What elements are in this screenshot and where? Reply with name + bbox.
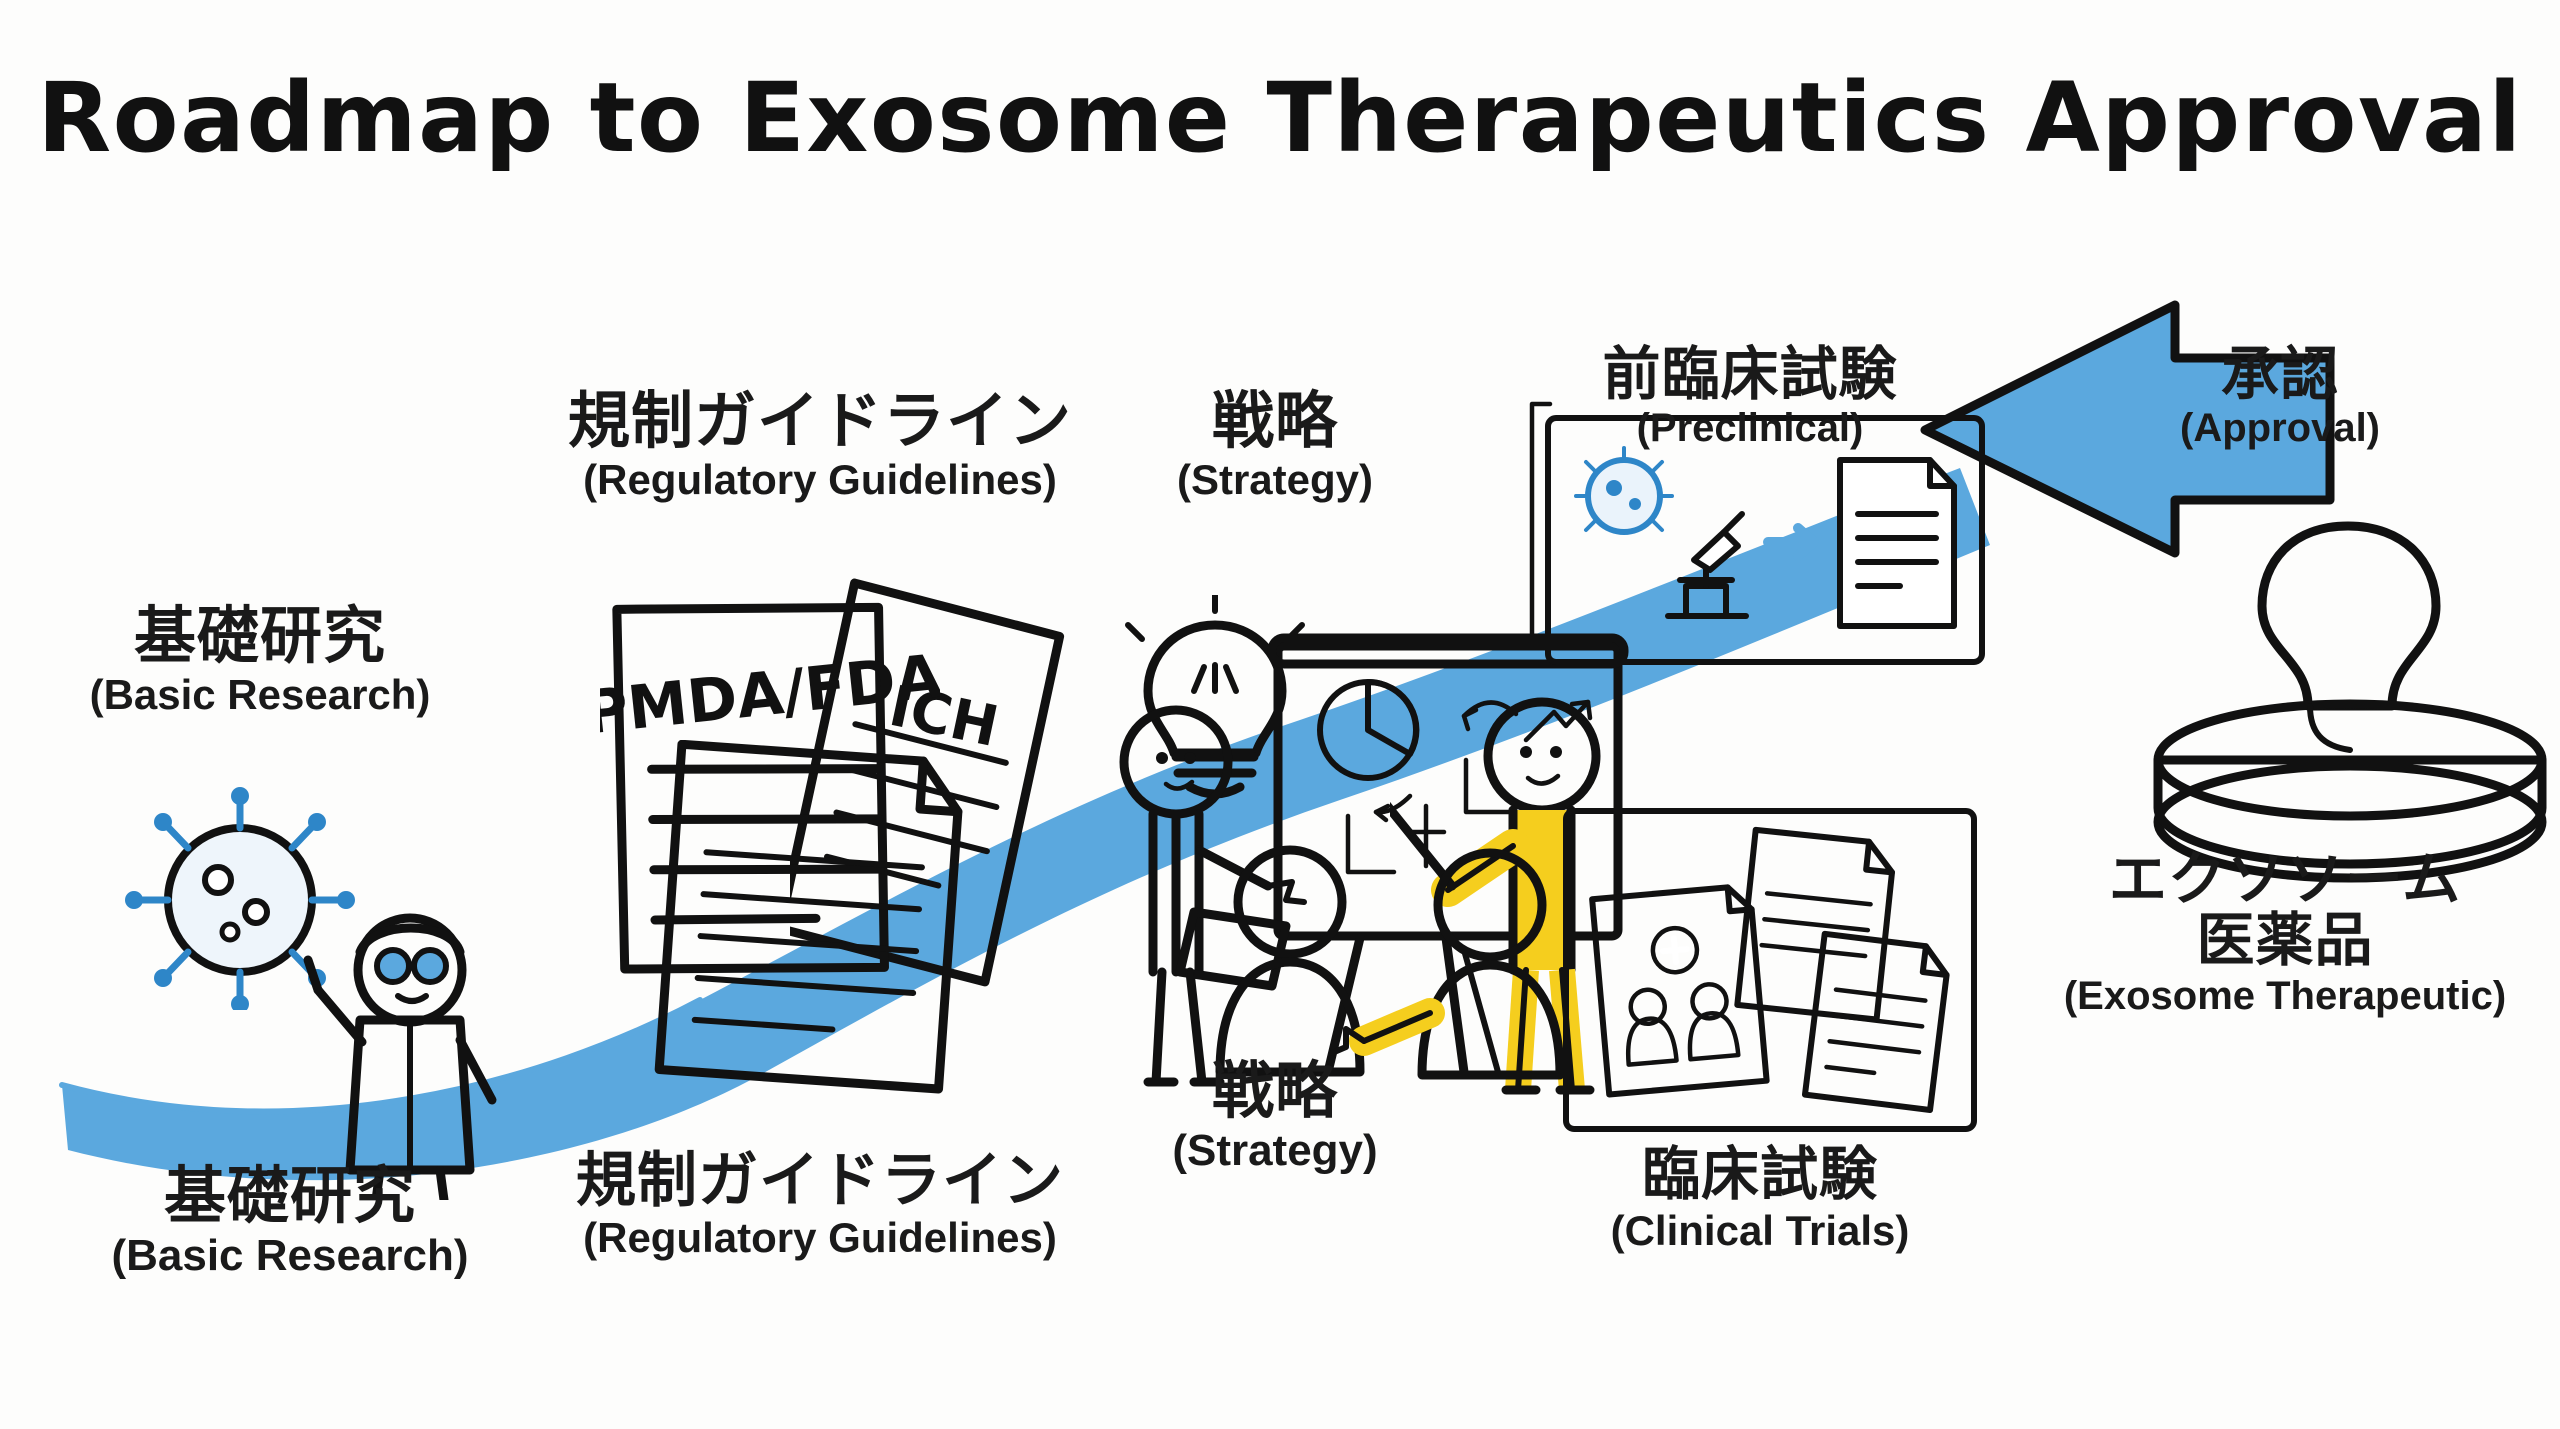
label-strategy-top-en: (Strategy) [1130,459,1420,502]
label-exosome-therapeutic-jp-line2: 医薬品 [2010,911,2560,970]
infographic-canvas: Roadmap to Exosome Therapeutics Approval [0,0,2560,1429]
label-preclinical: 前臨床試験 (Preclinical) [1540,345,1960,449]
pmda-fda-document-label: PMDA/FDA [600,641,940,748]
label-basic-research-bottom-jp: 基礎研究 [70,1165,510,1228]
label-approval-en: (Approval) [2130,408,2430,449]
label-clinical-trials: 臨床試験 (Clinical Trials) [1550,1145,1970,1253]
label-basic-research-top-jp: 基礎研究 [60,605,460,668]
approval-stamp-icon [2140,510,2560,890]
label-preclinical-en: (Preclinical) [1540,408,1960,449]
label-approval: 承認 (Approval) [2130,345,2430,449]
label-strategy-top-jp: 戦略 [1130,390,1420,453]
label-regulatory-guidelines-top: 規制ガイドライン (Regulatory Guidelines) [530,390,1110,502]
label-clinical-trials-jp: 臨床試験 [1550,1145,1970,1204]
label-exosome-therapeutic-en: (Exosome Therapeutic) [2010,976,2560,1017]
label-basic-research-bottom-en: (Basic Research) [70,1234,510,1279]
label-clinical-trials-en: (Clinical Trials) [1550,1210,1970,1253]
label-regulatory-guidelines-bottom: 規制ガイドライン (Regulatory Guidelines) [530,1150,1110,1260]
scientist-figure-icon [300,870,530,1200]
label-basic-research-top-en: (Basic Research) [60,674,460,717]
label-strategy-bottom-jp: 戦略 [1130,1060,1420,1123]
label-approval-jp: 承認 [2130,345,2430,404]
guideline-document-icon [650,740,980,1100]
label-exosome-therapeutic-jp-line1: エクソソーム [2010,850,2560,909]
label-regulatory-guidelines-top-jp: 規制ガイドライン [530,390,1110,453]
label-basic-research-bottom: 基礎研究 (Basic Research) [70,1165,510,1279]
clinical-trials-panel [1560,805,1980,1135]
label-regulatory-guidelines-top-en: (Regulatory Guidelines) [530,459,1110,502]
label-strategy-bottom: 戦略 (Strategy) [1130,1060,1420,1174]
label-basic-research-top: 基礎研究 (Basic Research) [60,605,460,717]
label-strategy-top: 戦略 (Strategy) [1130,390,1420,502]
label-regulatory-guidelines-bottom-en: (Regulatory Guidelines) [530,1217,1110,1260]
label-exosome-therapeutic: エクソソーム 医薬品 (Exosome Therapeutic) [2010,850,2560,1017]
label-preclinical-jp: 前臨床試験 [1540,345,1960,404]
label-regulatory-guidelines-bottom-jp: 規制ガイドライン [530,1150,1110,1211]
label-strategy-bottom-en: (Strategy) [1130,1129,1420,1174]
